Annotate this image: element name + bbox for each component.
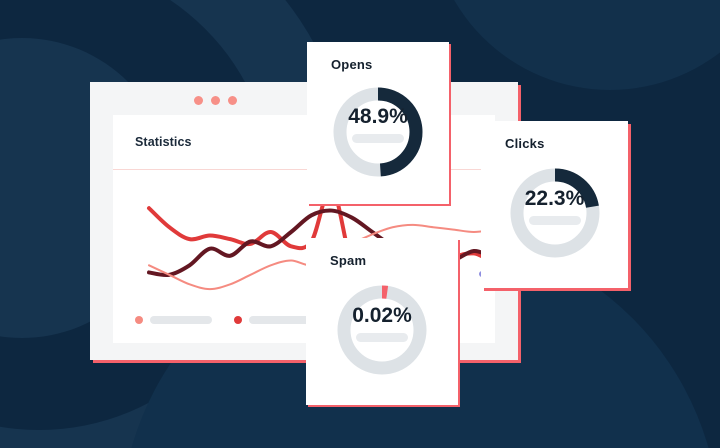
opens-donut-svg (330, 84, 426, 180)
clicks-placeholder-bar (529, 216, 581, 225)
spam-donut-svg (334, 282, 430, 378)
metric-card-clicks[interactable]: Clicks 22.3% (481, 121, 628, 288)
spam-donut-chart (334, 282, 430, 378)
window-maximize-dot-icon[interactable] (228, 96, 237, 105)
window-close-dot-icon[interactable] (194, 96, 203, 105)
statistics-title: Statistics (135, 135, 192, 149)
opens-donut-value: 48.9% (307, 105, 449, 129)
legend-item[interactable] (135, 316, 212, 324)
legend-dot-icon (135, 316, 143, 324)
opens-placeholder-bar (352, 134, 404, 143)
legend-label-placeholder (150, 316, 212, 324)
legend-label-placeholder (249, 316, 311, 324)
legend-item[interactable] (234, 316, 311, 324)
metric-card-opens[interactable]: Opens 48.9% (307, 42, 449, 204)
clicks-donut-chart (507, 165, 603, 261)
metric-card-clicks-title: Clicks (505, 136, 545, 151)
clicks-donut-svg (507, 165, 603, 261)
window-titlebar (90, 82, 518, 115)
background-ring-top-right (430, 0, 720, 90)
screenshot-stage: Statistics Opens 48.9% Spam (0, 0, 720, 448)
metric-card-spam-title: Spam (330, 253, 366, 268)
metric-card-spam[interactable]: Spam 0.02% (306, 238, 458, 405)
opens-donut-chart (330, 84, 426, 180)
spam-donut-value: 0.02% (306, 304, 458, 328)
metric-card-opens-title: Opens (331, 57, 372, 72)
clicks-donut-value: 22.3% (481, 187, 628, 211)
legend-dot-icon (234, 316, 242, 324)
window-minimize-dot-icon[interactable] (211, 96, 220, 105)
spam-placeholder-bar (356, 333, 408, 342)
